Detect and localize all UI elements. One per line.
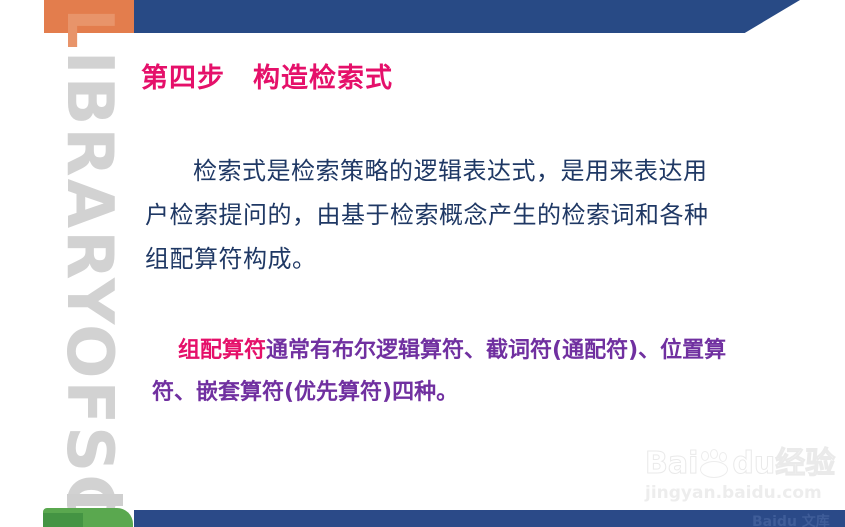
baidu-watermark-logo: Baidu经验: [645, 449, 840, 479]
footer-ghost-rect: [67, 494, 123, 506]
baidu-watermark-du: du: [732, 446, 775, 481]
vertical-logo-text: LIBRARYOFSCN: [57, 8, 121, 527]
paw-icon: [698, 451, 732, 477]
baidu-watermark-bai: Bai: [645, 446, 698, 481]
page-title: 第四步 构造检索式: [141, 56, 393, 95]
accent-highlight-term: 组配算符: [178, 338, 266, 363]
vertical-logo-lead-letter: L: [52, 8, 126, 51]
sidebar-logo-strip: LIBRARYOFSCN: [44, 0, 134, 527]
footer-green-accent: [43, 513, 83, 527]
accent-paragraph: 组配算符通常有布尔逻辑算符、截词符(通配符)、位置算符、嵌套算符(优先算符)四种…: [152, 330, 742, 414]
vertical-logo-remainder: IBRARYOFSCN: [52, 51, 126, 527]
header-blue-bar: [134, 0, 800, 33]
baidu-watermark-domain: jingyan.baidu.com: [645, 483, 840, 503]
footer-blue-bar: [134, 510, 845, 527]
baidu-watermark-cn: 经验: [775, 446, 835, 481]
baidu-watermark: Baidu经验 jingyan.baidu.com: [645, 449, 840, 503]
presentation-slide: LIBRARYOFSCN 第四步 构造检索式 检索式是检索策略的逻辑表达式，是用…: [0, 0, 845, 527]
body-paragraph: 检索式是检索策略的逻辑表达式，是用来表达用户检索提问的，由基于检索概念产生的检索…: [145, 150, 725, 282]
